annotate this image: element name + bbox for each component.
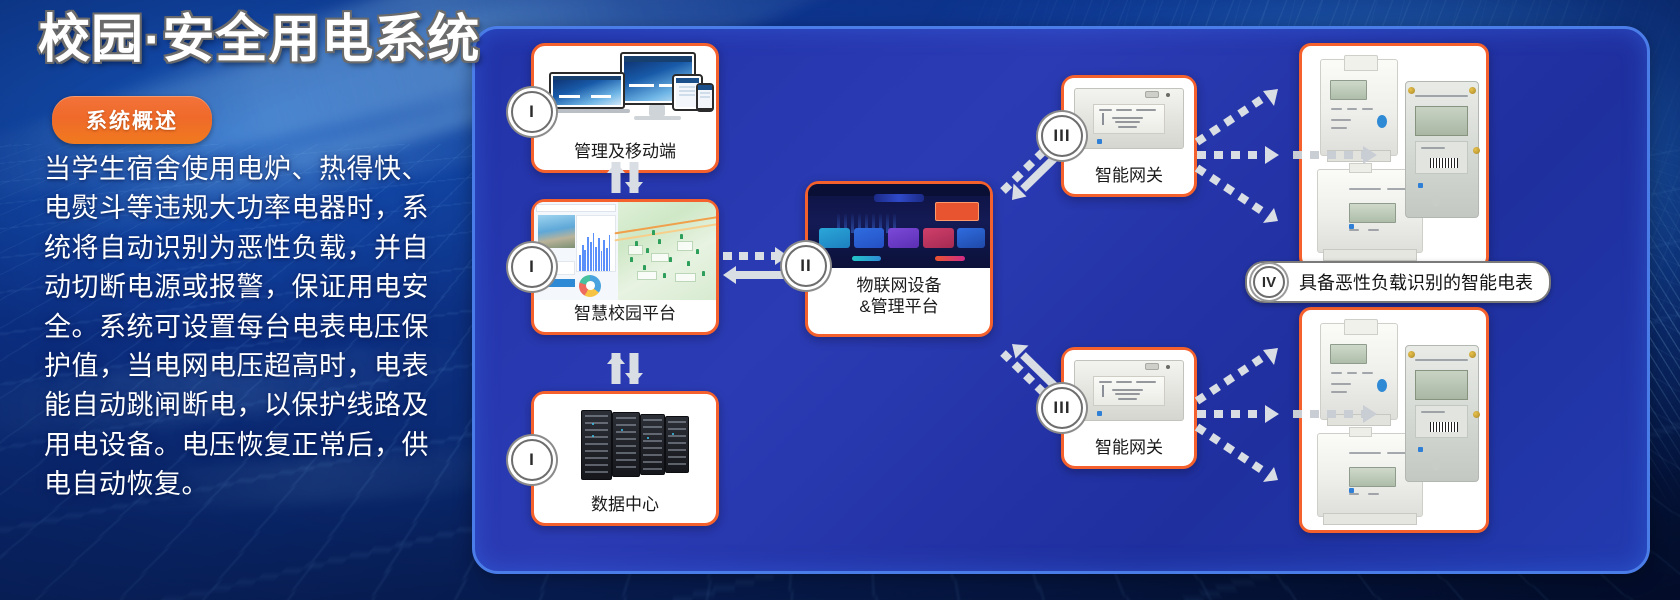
connector-meter-bottom-internal xyxy=(1293,405,1377,423)
badge-step-1-campus: I xyxy=(511,246,553,288)
connector-gateway-top-to-meters xyxy=(1197,89,1279,223)
connector-meter-top-internal xyxy=(1293,146,1377,164)
badge-step-1-datacenter: I xyxy=(511,439,553,481)
overview-paragraph: 当学生宿舍使用电炉、热得快、电熨斗等违规大功率电器时，系统将自动识别为恶性负载，… xyxy=(44,150,434,505)
callout-smart-meter-description: IV 具备恶性负载识别的智能电表 xyxy=(1245,261,1551,303)
connector-gateway-bottom-to-meters xyxy=(1197,348,1279,482)
badge-step-3-gateway-top: III xyxy=(1041,115,1083,157)
architecture-diagram-panel: 管理及移动端 I xyxy=(472,26,1650,574)
badge-step-4-meters: IV xyxy=(1253,266,1285,298)
connector-campus-to-iot xyxy=(723,247,788,284)
section-badge-overview: 系统概述 xyxy=(52,96,212,144)
badge-step-3-gateway-bottom: III xyxy=(1041,387,1083,429)
connector-campus-to-datacenter xyxy=(607,353,643,384)
connector-management-to-campus xyxy=(607,162,643,193)
intro-column: 校园·安全用电系统 系统概述 当学生宿舍使用电炉、热得快、电熨斗等违规大功率电器… xyxy=(0,0,480,600)
badge-step-1-management: I xyxy=(511,91,553,133)
callout-text: 具备恶性负载识别的智能电表 xyxy=(1299,269,1533,295)
page-title: 校园·安全用电系统 xyxy=(38,12,468,69)
badge-step-2-iot: II xyxy=(785,245,827,287)
